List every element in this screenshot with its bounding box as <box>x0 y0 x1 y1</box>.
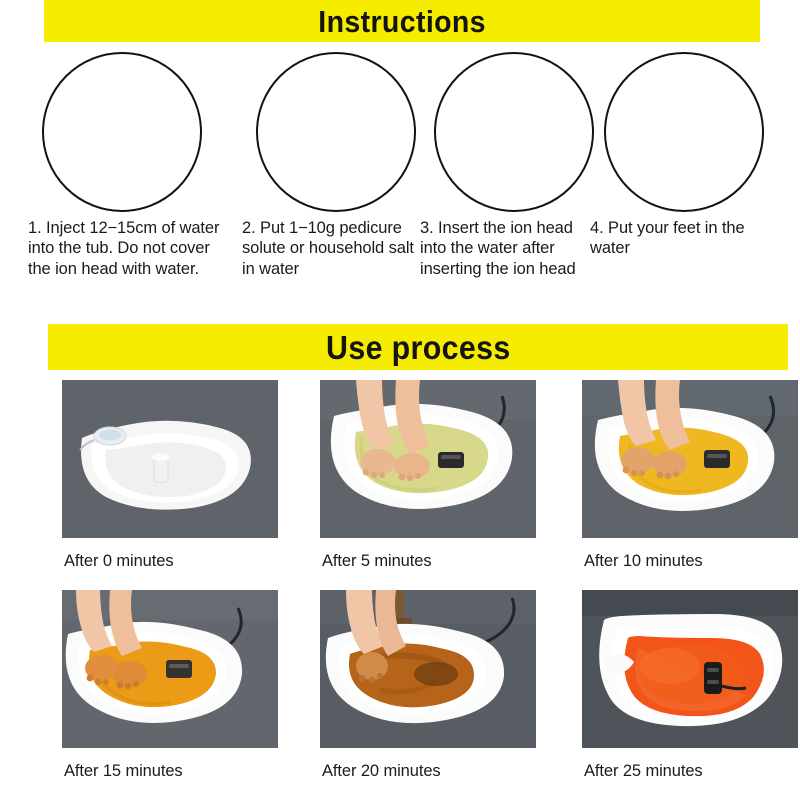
photo-cell-20-minutes: After 20 minutes <box>300 590 560 800</box>
instruction-step-1: 1. Inject 12−15cm of water into the tub.… <box>28 52 242 314</box>
photo-cell-5-minutes: After 5 minutes <box>300 380 560 590</box>
use-process-banner: Use process <box>48 324 788 370</box>
photo-caption-10-minutes: After 10 minutes <box>584 552 800 570</box>
photo-15-minutes <box>62 590 278 748</box>
photo-caption-5-minutes: After 5 minutes <box>322 552 560 570</box>
photo-caption-15-minutes: After 15 minutes <box>64 762 302 780</box>
photo-row-1: After 0 minutes <box>0 380 800 590</box>
step-3-illustration-circle <box>434 52 594 212</box>
use-process-banner-title: Use process <box>326 331 511 364</box>
step-3-circle-outline <box>434 52 594 212</box>
step-2-illustration-circle <box>256 52 416 212</box>
photo-cell-15-minutes: After 15 minutes <box>42 590 302 800</box>
instruction-step-2: 2. Put 1−10g pedicure solute or househol… <box>242 52 420 314</box>
use-process-photo-grid: After 0 minutes <box>0 380 800 800</box>
instruction-step-4: 4. Put your feet in the water <box>590 52 790 314</box>
photo-0-minutes <box>62 380 278 538</box>
photo-cell-0-minutes: After 0 minutes <box>42 380 302 590</box>
instruction-step-3-text: 3. Insert the ion head into the water af… <box>420 218 584 279</box>
step-4-circle-outline <box>604 52 764 212</box>
photo-20-minutes <box>320 590 536 748</box>
photo-cell-25-minutes: After 25 minutes <box>562 590 800 800</box>
photo-cell-10-minutes: After 10 minutes <box>562 380 800 590</box>
step-2-circle-outline <box>256 52 416 212</box>
photo-row-2: After 15 minutes <box>0 590 800 800</box>
photo-caption-0-minutes: After 0 minutes <box>64 552 302 570</box>
instruction-step-1-text: 1. Inject 12−15cm of water into the tub.… <box>28 218 234 279</box>
photo-5-minutes <box>320 380 536 538</box>
instruction-step-3: 3. Insert the ion head into the water af… <box>420 52 590 314</box>
step-1-illustration-circle <box>42 52 202 212</box>
instruction-step-2-text: 2. Put 1−10g pedicure solute or househol… <box>242 218 414 279</box>
photo-caption-20-minutes: After 20 minutes <box>322 762 560 780</box>
instructions-banner: Instructions <box>44 0 760 42</box>
instruction-steps-row: 1. Inject 12−15cm of water into the tub.… <box>28 52 794 314</box>
photo-25-minutes <box>582 590 798 748</box>
infographic-page: Instructions <box>0 0 800 800</box>
instruction-step-4-text: 4. Put your feet in the water <box>590 218 780 259</box>
photo-10-minutes <box>582 380 798 538</box>
step-1-circle-outline <box>42 52 202 212</box>
step-4-illustration-circle <box>604 52 764 212</box>
instructions-banner-title: Instructions <box>318 6 486 37</box>
photo-caption-25-minutes: After 25 minutes <box>584 762 800 780</box>
